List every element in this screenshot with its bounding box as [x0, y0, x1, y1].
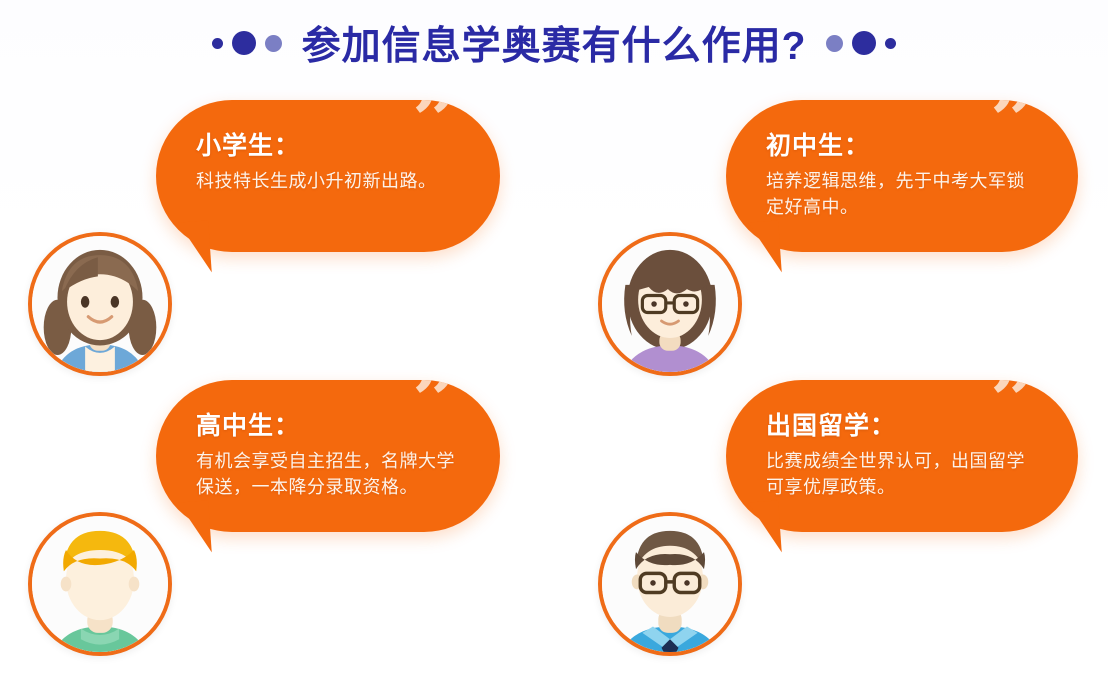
card-body: 有机会享受自主招生，名牌大学保送，一本降分录取资格。	[196, 448, 464, 500]
card-body: 培养逻辑思维，先于中考大军锁定好高中。	[766, 168, 1042, 220]
bubble-tail	[162, 220, 212, 275]
title-row: 参加信息学奥赛有什么作用?	[0, 14, 1108, 72]
man-glasses-tie-avatar	[598, 512, 742, 656]
page-title: 参加信息学奥赛有什么作用?	[302, 15, 807, 71]
infographic-poster: 参加信息学奥赛有什么作用? ” 小学生： 科技特长生成小升初新出路。	[0, 0, 1108, 690]
dot-small-dark-icon	[212, 38, 223, 49]
decor-dots-left	[212, 31, 282, 55]
dot-small-dark-icon	[885, 38, 896, 49]
card-heading: 高中生：	[196, 406, 464, 442]
decor-dots-right	[826, 31, 896, 55]
card-heading: 小学生：	[196, 126, 464, 162]
dot-medium-light-icon	[265, 35, 282, 52]
bubble-tail	[732, 500, 782, 555]
bubble-tail	[162, 500, 212, 555]
card-heading: 出国留学：	[766, 406, 1042, 442]
card-body: 比赛成绩全世界认可，出国留学可享优厚政策。	[766, 448, 1042, 500]
card-body: 科技特长生成小升初新出路。	[196, 168, 464, 194]
dot-large-dark-icon	[852, 31, 876, 55]
boy-blond-avatar	[28, 512, 172, 656]
girl-pigtails-avatar	[28, 232, 172, 376]
girl-glasses-avatar	[598, 232, 742, 376]
bubble-tail	[732, 220, 782, 275]
card-heading: 初中生：	[766, 126, 1042, 162]
dot-medium-light-icon	[826, 35, 843, 52]
dot-large-dark-icon	[232, 31, 256, 55]
